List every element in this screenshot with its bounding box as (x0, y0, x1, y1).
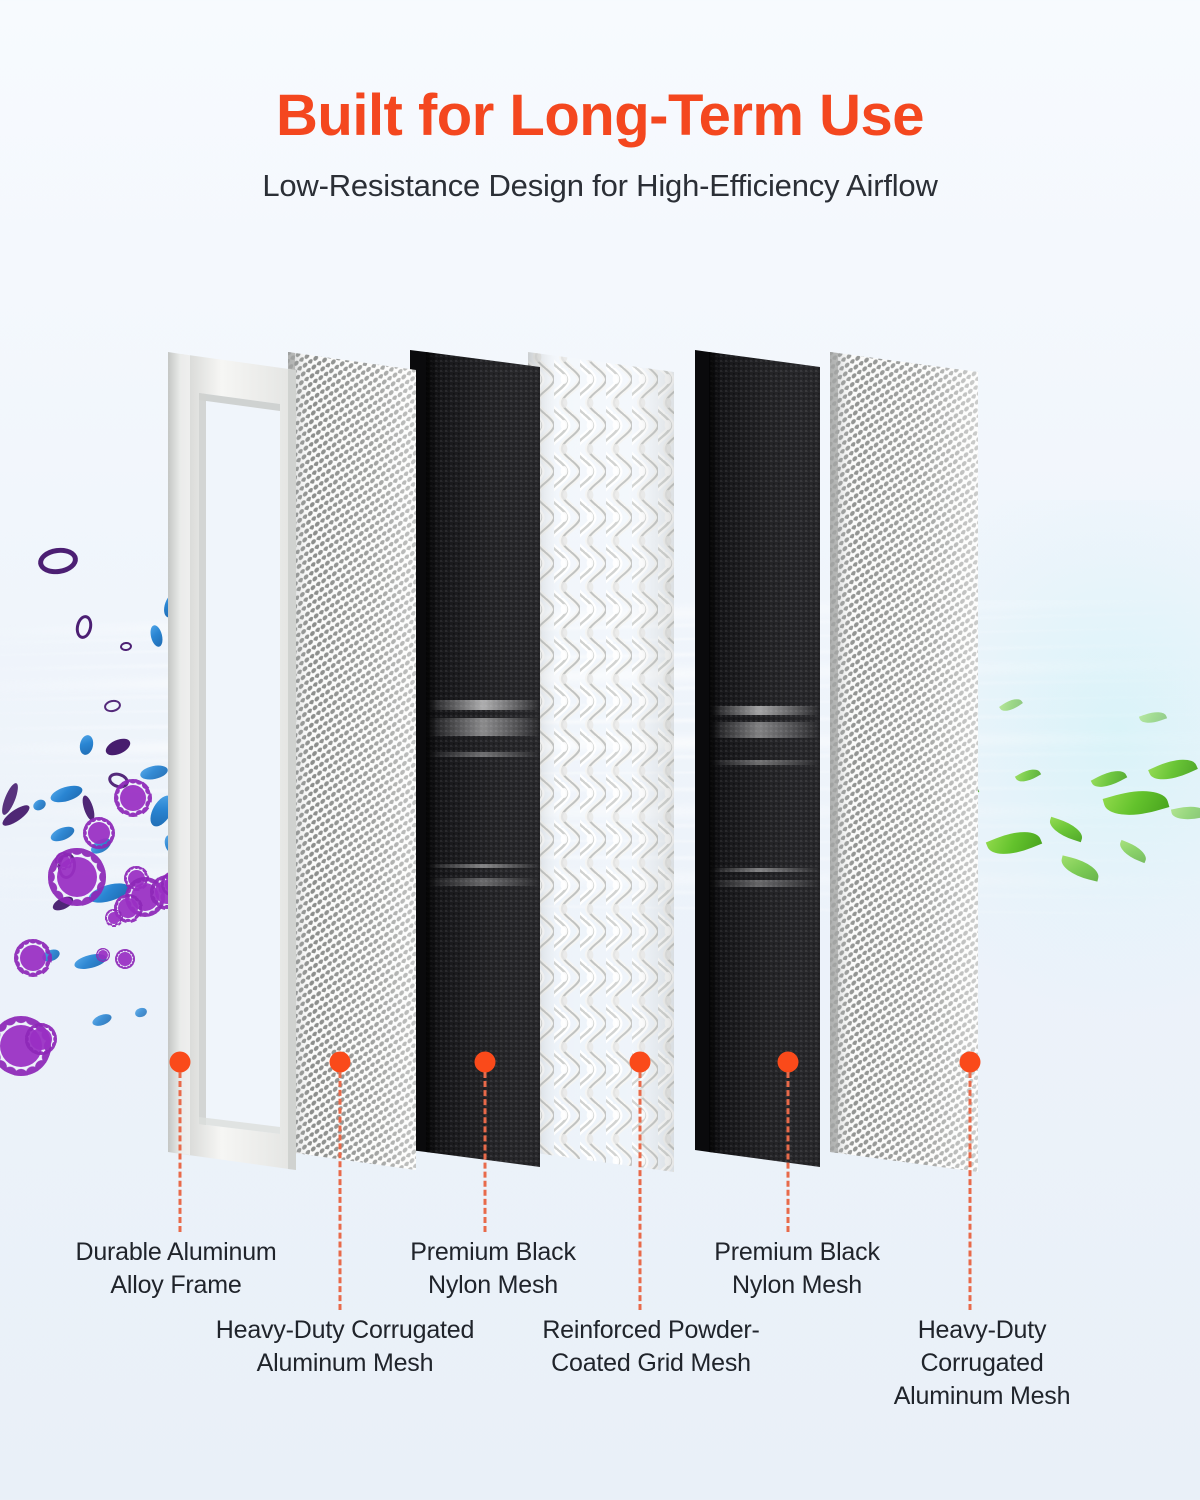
callout-line-frame (179, 1072, 182, 1232)
callout-caption-mesh-2: Heavy-Duty Corrugated Aluminum Mesh (873, 1314, 1091, 1413)
callout-line-nylon-2 (787, 1072, 790, 1232)
rod-particle (91, 1012, 113, 1028)
virus-particle (88, 822, 110, 844)
blob-particle (103, 735, 132, 758)
virus-particle (57, 857, 97, 897)
rod-particle (134, 1006, 148, 1018)
ring-particle (36, 545, 79, 576)
callout-caption-nylon-1: Premium Black Nylon Mesh (410, 1236, 576, 1302)
callout-line-grid (639, 1072, 642, 1310)
virus-particle (108, 912, 120, 924)
ring-particle (103, 698, 122, 713)
callout-dot-grid[interactable] (630, 1052, 651, 1073)
rod-particle (149, 624, 165, 648)
product-layer-diagram: Durable Aluminum Alloy FrameHeavy-Duty C… (0, 0, 1200, 1500)
callout-line-mesh-1 (339, 1072, 342, 1310)
callout-line-mesh-2 (969, 1072, 972, 1310)
rod-particle (139, 763, 169, 782)
callout-line-nylon-1 (484, 1072, 487, 1232)
virus-particle (20, 945, 46, 971)
callout-caption-mesh-1: Heavy-Duty Corrugated Aluminum Mesh (216, 1314, 474, 1380)
rod-particle (78, 734, 95, 756)
callout-caption-grid: Reinforced Powder- Coated Grid Mesh (542, 1314, 759, 1380)
callout-dot-nylon-2[interactable] (778, 1052, 799, 1073)
callout-caption-frame: Durable Aluminum Alloy Frame (75, 1236, 276, 1302)
callout-dot-frame[interactable] (170, 1052, 191, 1073)
ring-particle (120, 641, 133, 651)
callout-dot-mesh-1[interactable] (330, 1052, 351, 1073)
callout-dot-nylon-1[interactable] (475, 1052, 496, 1073)
virus-particle (30, 1028, 52, 1050)
callout-caption-nylon-2: Premium Black Nylon Mesh (714, 1236, 880, 1302)
virus-particle (98, 950, 108, 960)
virus-particle (118, 952, 132, 966)
callout-dot-mesh-2[interactable] (960, 1052, 981, 1073)
ring-particle (74, 614, 95, 641)
virus-particle (120, 785, 146, 811)
rod-particle (49, 782, 85, 805)
rod-particle (49, 824, 77, 844)
rod-particle (31, 798, 47, 813)
